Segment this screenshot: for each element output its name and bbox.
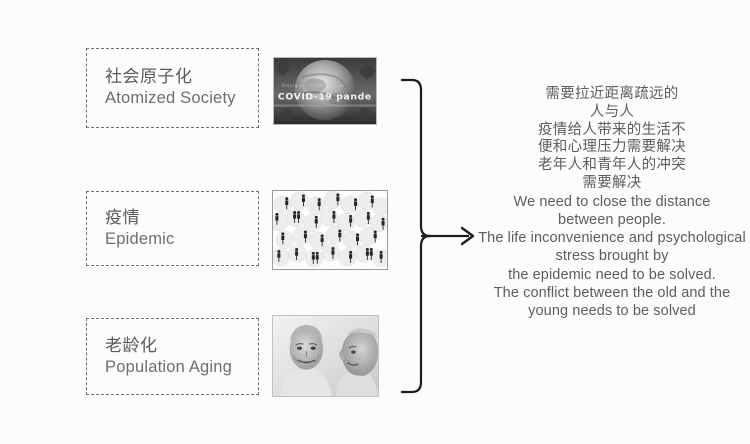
conclusion-line-en: The life inconvenience and psychological [478, 229, 746, 247]
concept-label-en: Epidemic [105, 229, 258, 250]
concept-box-epidemic[interactable]: 疫情 Epidemic [86, 191, 259, 266]
social-distancing-crowd-image [272, 190, 388, 270]
concept-label-en: Population Aging [105, 357, 258, 378]
conclusion-line-en: We need to close the distance [478, 193, 746, 211]
conclusion-line-zh: 需要解决 [478, 175, 746, 193]
elderly-people-photo [272, 315, 379, 397]
concept-box-atomized-society[interactable]: 社会原子化 Atomized Society [86, 48, 259, 128]
conclusion-line-en: young needs to be solved [478, 302, 746, 320]
conclusion-line-en: The conflict between the old and the [478, 284, 746, 302]
concept-label-zh: 老龄化 [105, 335, 258, 357]
concept-label-zh: 疫情 [105, 207, 258, 229]
concept-label-zh: 社会原子化 [105, 66, 258, 88]
bracket-arrow-connector [390, 66, 485, 396]
conclusion-line-en: the epidemic need to be solved. [478, 266, 746, 284]
concept-box-population-aging[interactable]: 老龄化 Population Aging [86, 318, 259, 395]
svg-text:COVID-19 pande: COVID-19 pande [278, 92, 372, 103]
conclusion-line-zh: 疫情给人带来的生活不 [478, 122, 746, 140]
concept-label-en: Atomized Society [105, 88, 258, 109]
conclusion-line-zh: 老年人和青年人的冲突 [478, 157, 746, 175]
conclusion-line-zh: 人与人 [478, 104, 746, 122]
conclusion-line-zh: 便和心理压力需要解决 [478, 139, 746, 157]
svg-text:Rising principles at risk: Rising principles at risk [282, 83, 344, 89]
conclusion-text-block: 需要拉近距离疏远的 人与人 疫情给人带来的生活不 便和心理压力需要解决 老年人和… [478, 86, 746, 320]
conclusion-line-zh: 需要拉近距离疏远的 [478, 86, 746, 104]
covid-19-pandemic-globe-image: COVID-19 pande Rising principles at risk [273, 57, 377, 125]
diagram-canvas: 社会原子化 Atomized Society [0, 0, 750, 444]
conclusion-line-en: between people. [478, 211, 746, 229]
conclusion-line-en: stress brought by [478, 247, 746, 265]
